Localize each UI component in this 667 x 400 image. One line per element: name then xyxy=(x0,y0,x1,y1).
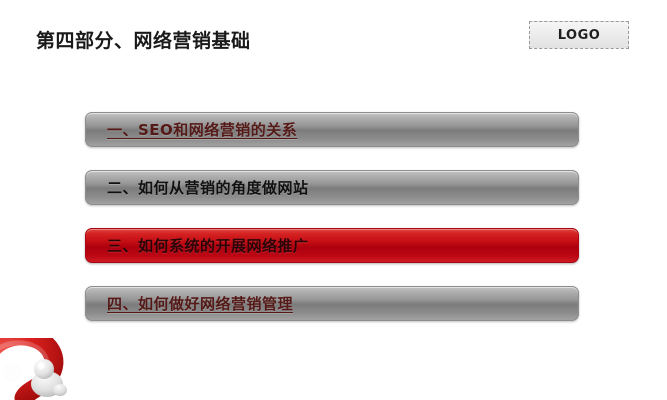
agenda-item-4[interactable]: 四、如何做好网络营销管理 xyxy=(85,286,579,321)
presentation-slide: 第四部分、网络营销基础 LOGO 一、SEO和网络营销的关系 二、如何从营销的角… xyxy=(0,0,667,400)
logo-label: LOGO xyxy=(558,28,601,43)
agenda-item-3-label: 三、如何系统的开展网络推广 xyxy=(86,235,309,256)
agenda-item-2[interactable]: 二、如何从营销的角度做网站 xyxy=(85,170,579,205)
agenda-list: 一、SEO和网络营销的关系 二、如何从营销的角度做网站 三、如何系统的开展网络推… xyxy=(85,112,579,321)
agenda-item-2-label: 二、如何从营销的角度做网站 xyxy=(86,177,309,198)
page-title: 第四部分、网络营销基础 xyxy=(36,26,251,53)
agenda-item-4-label: 四、如何做好网络营销管理 xyxy=(86,293,293,314)
question-mark-figure-icon xyxy=(0,338,86,400)
agenda-item-3[interactable]: 三、如何系统的开展网络推广 xyxy=(85,228,579,263)
agenda-item-1[interactable]: 一、SEO和网络营销的关系 xyxy=(85,112,579,147)
agenda-item-1-label: 一、SEO和网络营销的关系 xyxy=(86,119,297,140)
logo-placeholder: LOGO xyxy=(529,21,629,49)
